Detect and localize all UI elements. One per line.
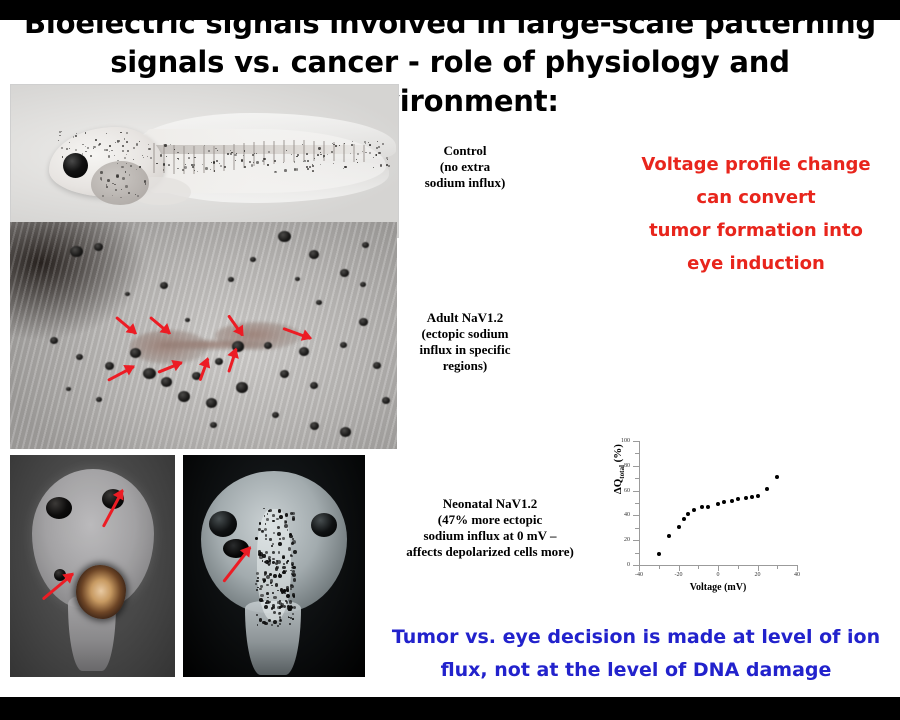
chart-y-minor-tick bbox=[635, 478, 639, 479]
gut-pigment-dot bbox=[284, 593, 286, 595]
melanocyte bbox=[310, 382, 318, 389]
chart-y-tick-label: 60 bbox=[606, 488, 630, 494]
myotome-line bbox=[353, 144, 355, 162]
pigment-dot bbox=[104, 149, 106, 151]
gut-pigment-dot bbox=[262, 554, 265, 557]
letterbox-bottom bbox=[0, 697, 900, 720]
pigment-dot bbox=[224, 166, 225, 167]
pigment-dot bbox=[274, 160, 276, 162]
pigment-dot bbox=[133, 159, 134, 160]
pigment-dot bbox=[75, 149, 77, 151]
chart-x-tick bbox=[797, 565, 798, 571]
pigment-dot bbox=[303, 161, 304, 162]
melanocyte bbox=[50, 337, 58, 344]
gut-pigment-dot bbox=[284, 520, 288, 524]
chart-data-point bbox=[716, 502, 720, 506]
gut-pigment-dot bbox=[290, 570, 291, 571]
pigment-dot bbox=[378, 152, 380, 154]
pigment-dot bbox=[133, 147, 135, 149]
chart-y-minor-tick bbox=[635, 453, 639, 454]
pigment-dot bbox=[124, 157, 126, 159]
red-text-line-1: Voltage profile change bbox=[612, 148, 900, 181]
pigment-dot bbox=[102, 195, 103, 196]
gut-pigment-dot bbox=[266, 592, 269, 595]
pigment-dot bbox=[160, 154, 162, 156]
melanocyte bbox=[373, 362, 381, 369]
pigment-dot bbox=[185, 164, 186, 165]
slide-root: Bioelectric signals involved in large-sc… bbox=[0, 0, 900, 720]
gut-pigment-dot bbox=[292, 516, 296, 520]
tadpole4-eye-left bbox=[209, 511, 237, 537]
chart-y-tick bbox=[633, 491, 639, 492]
chart-y-minor-tick bbox=[635, 528, 639, 529]
gut-pigment-dot bbox=[278, 509, 282, 513]
chart-x-minor-tick bbox=[659, 565, 660, 569]
gut-pigment-dot bbox=[286, 594, 290, 598]
chart-x-tick-label: 20 bbox=[755, 572, 761, 578]
pigment-dot bbox=[253, 162, 254, 163]
pigment-dot bbox=[210, 169, 211, 170]
gut-pigment-dot bbox=[272, 592, 274, 594]
gut-pigment-dot bbox=[282, 555, 285, 558]
red-text-line-2: can convert bbox=[612, 181, 900, 214]
chart-x-tick-label: -20 bbox=[675, 572, 683, 578]
gut-pigment-dot bbox=[263, 581, 265, 583]
chart-x-tick-label: -40 bbox=[635, 572, 643, 578]
caption-adult-line-1: Adult NaV1.2 bbox=[395, 310, 535, 326]
gut-pigment-dot bbox=[277, 532, 281, 536]
pigment-dot bbox=[126, 132, 128, 134]
gut-pigment-dot bbox=[293, 550, 297, 554]
blue-text-line-1: Tumor vs. eye decision is made at level … bbox=[376, 621, 896, 654]
pigment-dot bbox=[236, 153, 237, 154]
pigment-dot bbox=[234, 154, 236, 156]
chart-x-tick bbox=[718, 565, 719, 571]
chart-data-point bbox=[730, 499, 734, 503]
pigment-dot bbox=[294, 161, 295, 162]
gut-pigment-dot bbox=[278, 551, 280, 553]
pigment-dot bbox=[312, 164, 313, 165]
melanocyte bbox=[382, 397, 390, 404]
pigment-dot bbox=[174, 149, 175, 150]
chart-data-point bbox=[692, 508, 696, 512]
gut-pigment-dot bbox=[256, 589, 258, 591]
tadpole4-eye-right bbox=[311, 513, 337, 537]
caption-adult-line-2: (ectopic sodium bbox=[395, 326, 535, 342]
pigment-dot bbox=[320, 164, 321, 165]
pigment-dot bbox=[109, 145, 110, 146]
chart-data-point bbox=[756, 494, 760, 498]
gut-pigment-dot bbox=[287, 560, 289, 562]
caption-adult-nav: Adult NaV1.2 (ectopic sodium influx in s… bbox=[395, 310, 535, 374]
chart-data-point bbox=[686, 512, 690, 516]
pigment-dot bbox=[58, 140, 59, 141]
gut-pigment-dot bbox=[286, 601, 288, 603]
gut-pigment-dot bbox=[272, 558, 274, 560]
tumor-mass bbox=[76, 565, 126, 619]
chart-x-minor-tick bbox=[698, 565, 699, 569]
chart-y-minor-tick bbox=[635, 553, 639, 554]
gut-pigment-dot bbox=[273, 532, 275, 534]
caption-neonatal-line-4: affects depolarized cells more) bbox=[385, 544, 595, 560]
pigment-dot bbox=[312, 170, 314, 172]
pigment-dot bbox=[318, 147, 320, 149]
chart-y-tick bbox=[633, 515, 639, 516]
chart-y-tick-label: 80 bbox=[606, 463, 630, 469]
pigment-dot bbox=[100, 177, 103, 180]
pigment-dot bbox=[302, 144, 303, 145]
gut-pigment-dot bbox=[290, 554, 292, 556]
gut-pigment-dot bbox=[290, 605, 292, 607]
caption-control: Control (no extra sodium influx) bbox=[395, 143, 535, 191]
pigment-dot bbox=[112, 195, 113, 196]
pigment-dot bbox=[117, 160, 118, 161]
red-text-line-4: eye induction bbox=[612, 247, 900, 280]
melanocyte bbox=[359, 318, 368, 326]
pigment-dot bbox=[194, 157, 196, 159]
tumor-ventral-image bbox=[10, 455, 175, 677]
chart-data-point bbox=[682, 517, 686, 521]
gut-pigment-dot bbox=[259, 598, 263, 602]
gut-pigment-dot bbox=[266, 575, 270, 579]
chart-x-tick bbox=[679, 565, 680, 571]
ectopic-eye-ventral-image bbox=[183, 455, 365, 677]
chart-y-tick-label: 20 bbox=[606, 537, 630, 543]
gut-pigment-dot bbox=[264, 605, 268, 609]
pigment-dot bbox=[267, 164, 268, 165]
charge-vs-voltage-chart: Voltage (mV) ΔQtotal (%) 020406080100-40… bbox=[600, 432, 822, 604]
chart-y-tick bbox=[633, 466, 639, 467]
caption-adult-line-3: influx in specific bbox=[395, 342, 535, 358]
pigment-dot bbox=[214, 170, 215, 171]
pigment-dot bbox=[296, 168, 298, 170]
pigment-dot bbox=[249, 161, 250, 162]
control-tadpole-image bbox=[10, 84, 399, 238]
pigment-dot bbox=[147, 156, 148, 157]
pigment-dot bbox=[125, 185, 127, 187]
gut-pigment-dot bbox=[289, 623, 291, 625]
caption-neonatal-line-3: sodium influx at 0 mV – bbox=[385, 528, 595, 544]
gut-pigment-dot bbox=[255, 537, 258, 540]
chart-data-point bbox=[736, 497, 740, 501]
gut-pigment-dot bbox=[268, 619, 271, 622]
pigment-dot bbox=[93, 146, 95, 148]
myotome-line bbox=[303, 140, 305, 161]
chart-y-tick-label: 0 bbox=[606, 562, 630, 568]
pigment-dot bbox=[114, 155, 115, 156]
gut-pigment-dot bbox=[259, 522, 261, 524]
pigment-dot bbox=[188, 157, 190, 159]
pigment-dot bbox=[100, 171, 102, 173]
melanocyte bbox=[340, 269, 349, 277]
pigment-dot bbox=[106, 149, 108, 151]
melanocyte bbox=[94, 243, 103, 251]
pigment-dot bbox=[380, 164, 382, 166]
pigment-dot bbox=[205, 167, 208, 170]
gut-pigment-dot bbox=[281, 603, 284, 606]
melanocyte bbox=[160, 282, 168, 289]
gut-pigment-dot bbox=[292, 593, 295, 596]
gut-pigment-dot bbox=[284, 524, 288, 528]
gut-pigment-dot bbox=[293, 578, 297, 582]
caption-control-line-2: (no extra bbox=[395, 159, 535, 175]
gut-pigment-dot bbox=[278, 574, 282, 578]
chart-y-tick bbox=[633, 441, 639, 442]
gut-pigment-dot bbox=[275, 583, 279, 587]
pigment-dot bbox=[306, 153, 308, 155]
chart-x-tick-label: 0 bbox=[717, 572, 720, 578]
gut-pigment-dot bbox=[279, 623, 281, 625]
gut-pigment-dot bbox=[259, 618, 262, 621]
gut-pigment-dot bbox=[264, 572, 267, 575]
pigment-dot bbox=[59, 131, 61, 133]
pigment-dot bbox=[117, 163, 118, 164]
pigment-dot bbox=[241, 159, 243, 161]
gut-pigment-dot bbox=[270, 579, 274, 583]
pigment-dot bbox=[365, 143, 366, 144]
chart-x-tick bbox=[758, 565, 759, 571]
pigment-dot bbox=[163, 163, 165, 165]
caption-control-line-3: sodium influx) bbox=[395, 175, 535, 191]
pigment-dot bbox=[344, 166, 346, 168]
gut-pigment-dot bbox=[272, 514, 275, 517]
pigment-dot bbox=[164, 144, 166, 146]
gut-pigment-dot bbox=[268, 558, 270, 560]
pigment-dot bbox=[120, 197, 122, 199]
chart-data-point bbox=[677, 525, 681, 529]
pigment-dot bbox=[357, 162, 358, 163]
pigment-dot bbox=[126, 141, 128, 143]
myotome-line bbox=[343, 143, 345, 162]
melanocyte bbox=[310, 422, 319, 430]
pigment-dot bbox=[150, 157, 152, 159]
pigment-dot bbox=[124, 138, 125, 139]
chart-data-point bbox=[744, 496, 748, 500]
panel2-muscle-striations bbox=[10, 222, 397, 449]
lesion-bridge bbox=[160, 340, 270, 350]
myotome-line bbox=[293, 140, 295, 162]
pigment-dot bbox=[227, 153, 229, 155]
chart-x-tick-label: 40 bbox=[794, 572, 800, 578]
chart-y-tick-label: 40 bbox=[606, 512, 630, 518]
red-text-line-3: tumor formation into bbox=[612, 214, 900, 247]
gut-pigment-dot bbox=[285, 570, 287, 572]
gut-pigment-dot bbox=[260, 594, 263, 597]
pigment-dot bbox=[69, 148, 70, 149]
red-annotation-text: Voltage profile change can convert tumor… bbox=[612, 148, 900, 280]
melanocyte bbox=[178, 391, 190, 402]
blue-conclusion-text: Tumor vs. eye decision is made at level … bbox=[376, 621, 896, 687]
myotome-line bbox=[153, 143, 155, 173]
gut-pigment-dot bbox=[266, 518, 269, 521]
pigment-dot bbox=[121, 166, 123, 168]
caption-neonatal-line-1: Neonatal NaV1.2 bbox=[385, 496, 595, 512]
gut-pigment-dot bbox=[259, 588, 262, 591]
chart-x-minor-tick bbox=[777, 565, 778, 569]
gut-pigment-dot bbox=[292, 618, 294, 620]
gut-pigment-dot bbox=[287, 607, 290, 610]
pigment-dot bbox=[215, 148, 216, 149]
gut-pigment-dot bbox=[275, 567, 279, 571]
blue-text-line-2: flux, not at the level of DNA damage bbox=[376, 654, 896, 687]
melanocyte bbox=[340, 427, 351, 437]
pigment-dot bbox=[136, 143, 138, 145]
gut-pigment-dot bbox=[272, 604, 275, 607]
gut-pigment-dot bbox=[256, 614, 258, 616]
gut-pigment-dot bbox=[275, 562, 278, 565]
pigment-dot bbox=[142, 155, 143, 156]
gut-pigment-dot bbox=[265, 534, 267, 536]
pigment-dot bbox=[128, 192, 130, 194]
gut-pigment-dot bbox=[292, 570, 295, 573]
gut-pigment-dot bbox=[264, 622, 268, 626]
chart-data-point bbox=[750, 495, 754, 499]
melanocyte bbox=[206, 398, 217, 408]
gut-pigment-dot bbox=[261, 530, 263, 532]
pigment-dot bbox=[323, 155, 324, 156]
pigment-dot bbox=[125, 171, 127, 173]
gut-pigment-dot bbox=[282, 537, 285, 540]
chart-x-axis-title: Voltage (mV) bbox=[639, 582, 797, 593]
myotome-line bbox=[323, 141, 325, 161]
chart-data-point bbox=[722, 500, 726, 504]
pigment-dot bbox=[216, 160, 218, 162]
gut-pigment-dot bbox=[292, 564, 294, 566]
pigment-dot bbox=[284, 169, 287, 172]
caption-adult-line-4: regions) bbox=[395, 358, 535, 374]
pigment-dot bbox=[107, 179, 110, 182]
gut-pigment-dot bbox=[292, 512, 295, 515]
gut-pigment-dot bbox=[271, 545, 273, 547]
chart-data-point bbox=[700, 505, 704, 509]
melanocyte bbox=[280, 370, 289, 378]
gut-pigment-dot bbox=[279, 600, 281, 602]
gut-pigment-dot bbox=[256, 580, 258, 582]
caption-control-line-1: Control bbox=[395, 143, 535, 159]
pigment-dot bbox=[220, 165, 222, 167]
chart-data-point bbox=[657, 552, 661, 556]
gut-pigment-dot bbox=[292, 574, 294, 576]
myotome-line bbox=[213, 146, 215, 172]
gut-pigment-dot bbox=[290, 585, 293, 588]
pigment-dot bbox=[122, 145, 124, 147]
chart-x-minor-tick bbox=[738, 565, 739, 569]
pigment-dot bbox=[122, 177, 125, 180]
myotome-line bbox=[233, 144, 235, 169]
caption-neonatal-line-2: (47% more ectopic bbox=[385, 512, 595, 528]
chart-x-tick bbox=[639, 565, 640, 571]
gut-pigment-dot bbox=[279, 538, 280, 539]
gut-pigment-dot bbox=[278, 542, 282, 546]
gut-pigment-dot bbox=[271, 624, 273, 626]
pigment-dot bbox=[317, 154, 319, 156]
myotome-line bbox=[363, 145, 365, 162]
chart-data-point bbox=[667, 534, 671, 538]
pigment-dot bbox=[184, 166, 186, 168]
pigment-dot bbox=[331, 151, 333, 153]
pigment-dot bbox=[202, 164, 203, 165]
caption-neonatal-nav: Neonatal NaV1.2 (47% more ectopic sodium… bbox=[385, 496, 595, 560]
pigment-dot bbox=[188, 153, 189, 154]
tadpole3-eye-left bbox=[46, 497, 72, 519]
gut-pigment-dot bbox=[292, 566, 296, 570]
pigment-dot bbox=[373, 167, 374, 168]
pigment-dot bbox=[109, 151, 110, 152]
pigment-dot bbox=[369, 144, 371, 146]
pigment-dot bbox=[93, 148, 94, 149]
melanocyte bbox=[299, 347, 309, 356]
pigment-dot bbox=[256, 161, 258, 163]
melanocyte bbox=[105, 362, 114, 370]
chart-y-minor-tick bbox=[635, 503, 639, 504]
adult-nav-tissue-image bbox=[10, 222, 397, 449]
gut-pigment-dot bbox=[262, 560, 264, 562]
melanocyte bbox=[215, 358, 223, 365]
gut-pigment-dot bbox=[289, 533, 292, 536]
chart-y-tick bbox=[633, 540, 639, 541]
chart-data-point bbox=[775, 475, 779, 479]
gut-pigment-dot bbox=[269, 538, 271, 540]
title-line-1: Bioelectric signals involved in large-sc… bbox=[24, 6, 876, 40]
pigment-dot bbox=[115, 189, 117, 191]
gut-pigment-dot bbox=[273, 574, 277, 578]
melanocyte bbox=[236, 382, 248, 393]
pigment-dot bbox=[387, 159, 388, 160]
chart-data-point bbox=[765, 487, 769, 491]
chart-y-tick-label: 100 bbox=[606, 438, 630, 444]
pigment-dot bbox=[108, 155, 110, 157]
pigment-dot bbox=[144, 180, 146, 182]
tadpole-eye bbox=[63, 153, 88, 178]
pigment-dot bbox=[235, 160, 236, 161]
pigment-dot bbox=[268, 151, 270, 153]
melanocyte bbox=[309, 250, 319, 259]
pigment-dot bbox=[111, 150, 112, 151]
pigment-dot bbox=[217, 150, 218, 151]
pigment-dot bbox=[344, 143, 345, 144]
gut-pigment-dot bbox=[265, 523, 267, 525]
chart-plot-area bbox=[639, 441, 791, 565]
gut-pigment-dot bbox=[277, 526, 280, 529]
chart-data-point bbox=[706, 505, 710, 509]
gut-pigment-dot bbox=[273, 596, 277, 600]
pigment-dot bbox=[178, 159, 179, 160]
pigment-dot bbox=[208, 150, 210, 152]
melanocyte bbox=[130, 348, 141, 358]
melanocyte bbox=[264, 342, 272, 349]
myotome-line bbox=[283, 140, 285, 162]
melanocyte bbox=[161, 377, 172, 387]
